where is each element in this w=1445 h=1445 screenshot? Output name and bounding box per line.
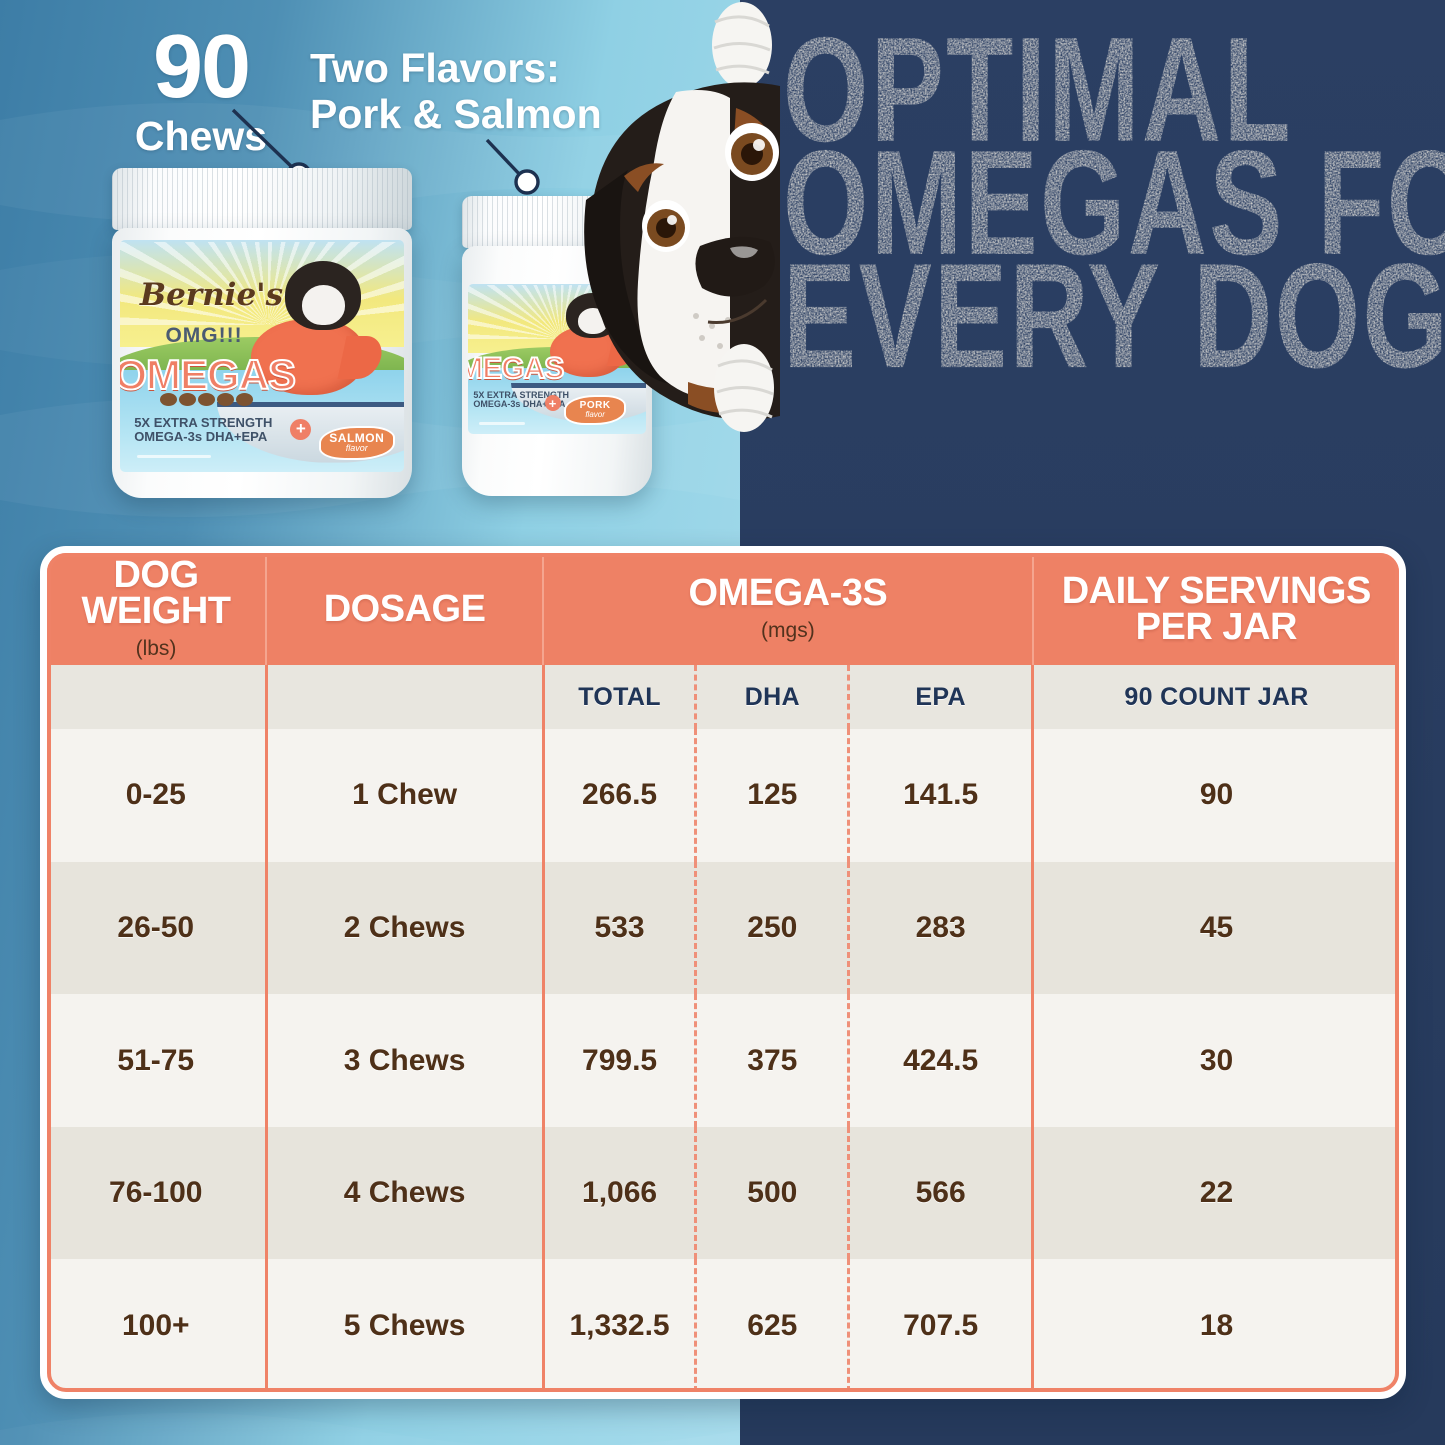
table-sub-header-row: TOTAL DHA EPA 90 COUNT JAR (47, 665, 1399, 729)
dog-eye-left (642, 200, 690, 252)
cell-servings: 18 (1033, 1259, 1399, 1392)
subheader-dha: DHA (696, 665, 849, 729)
cell-dog-weight: 26-50 (47, 862, 266, 995)
cell-dosage: 2 Chews (266, 862, 543, 995)
cell-total: 533 (543, 862, 696, 995)
table-row: 0-25 1 Chew 266.5 125 141.5 90 (47, 729, 1399, 862)
cell-servings: 90 (1033, 729, 1399, 862)
plus-icon: + (290, 419, 311, 440)
jar-claim-line-2: OMEGA-3s DHA+EPA (134, 430, 272, 444)
infographic-canvas: OPTIMAL OMEGAS FOR EVERY DOG 90 Chews Tw… (0, 0, 1445, 1445)
cell-total: 1,332.5 (543, 1259, 696, 1392)
leader-dot-flavors (516, 171, 538, 193)
flavor-badge-salmon: SALMON flavor (319, 426, 395, 460)
jar-body: Bernie's OMG!!! OMEGAS 5X EXTRA STRENGTH… (112, 228, 412, 498)
table-row: 76-100 4 Chews 1,066 500 566 22 (47, 1127, 1399, 1260)
cell-dha: 625 (696, 1259, 849, 1392)
table-row: 100+ 5 Chews 1,332.5 625 707.5 18 (47, 1259, 1399, 1392)
cell-dha: 375 (696, 994, 849, 1127)
cell-total: 799.5 (543, 994, 696, 1127)
header-dog-weight-unit: (lbs) (53, 637, 259, 661)
subheader-blank-2 (266, 665, 543, 729)
header-omega3s-label: OMEGA-3S (689, 572, 888, 614)
header-omega3s-unit: (mgs) (550, 619, 1025, 643)
product-jar-salmon: Bernie's OMG!!! OMEGAS 5X EXTRA STRENGTH… (112, 168, 412, 498)
cell-dosage: 4 Chews (266, 1127, 543, 1260)
cell-dosage: 5 Chews (266, 1259, 543, 1392)
cell-epa: 283 (849, 862, 1033, 995)
cell-servings: 45 (1033, 862, 1399, 995)
cell-servings: 30 (1033, 994, 1399, 1127)
cell-dha: 125 (696, 729, 849, 862)
cell-epa: 424.5 (849, 994, 1033, 1127)
cell-dog-weight: 100+ (47, 1259, 266, 1392)
cell-dosage: 3 Chews (266, 994, 543, 1127)
jar-label-artwork: Bernie's OMG!!! OMEGAS 5X EXTRA STRENGTH… (120, 240, 404, 472)
cell-dosage: 1 Chew (266, 729, 543, 862)
subheader-total: TOTAL (543, 665, 696, 729)
table-group-header-row: DOG WEIGHT (lbs) DOSAGE OMEGA-3S (mgs) D… (47, 553, 1399, 665)
jar-claim-line-1: 5X EXTRA STRENGTH (134, 416, 272, 430)
sub-brand: OMG!!! (165, 324, 242, 348)
hero-title: OPTIMAL OMEGAS FOR EVERY DOG (740, 0, 1445, 540)
cell-dha: 250 (696, 862, 849, 995)
table-row: 51-75 3 Chews 799.5 375 424.5 30 (47, 994, 1399, 1127)
table-row: 26-50 2 Chews 533 250 283 45 (47, 862, 1399, 995)
cell-dha: 500 (696, 1127, 849, 1260)
subheader-count-jar: 90 COUNT JAR (1033, 665, 1399, 729)
header-dog-weight-label: DOG WEIGHT (82, 554, 231, 632)
dog-paw-bottom (714, 344, 774, 432)
header-dosage: DOSAGE (266, 553, 543, 665)
hero-title-line-3: EVERY DOG (783, 232, 1445, 399)
dosage-table: DOG WEIGHT (lbs) DOSAGE OMEGA-3S (mgs) D… (40, 546, 1406, 1399)
cell-epa: 566 (849, 1127, 1033, 1260)
subheader-blank-1 (47, 665, 266, 729)
header-omega3s: OMEGA-3S (mgs) (543, 553, 1032, 665)
plus-icon: + (545, 395, 561, 411)
cell-total: 1,066 (543, 1127, 696, 1260)
flavor-word: flavor (346, 444, 368, 453)
peeking-dog-illustration (560, 0, 810, 450)
dog-paw-top (712, 2, 772, 88)
jar-name: OMEGAS (468, 352, 563, 386)
cell-dog-weight: 51-75 (47, 994, 266, 1127)
header-dosage-label: DOSAGE (324, 588, 486, 630)
jar-cap (112, 168, 412, 230)
cell-servings: 22 (1033, 1127, 1399, 1260)
header-dog-weight: DOG WEIGHT (lbs) (47, 553, 266, 665)
cell-dog-weight: 76-100 (47, 1127, 266, 1260)
subheader-epa: EPA (849, 665, 1033, 729)
cell-dog-weight: 0-25 (47, 729, 266, 862)
cell-total: 266.5 (543, 729, 696, 862)
brand-script: Bernie's (140, 277, 283, 313)
cell-epa: 707.5 (849, 1259, 1033, 1392)
header-daily-servings: DAILY SERVINGS PER JAR (1033, 553, 1399, 665)
chew-pieces-icon (160, 393, 253, 406)
cell-epa: 141.5 (849, 729, 1033, 862)
dog-eye-right (725, 123, 779, 181)
header-daily-servings-label: DAILY SERVINGS PER JAR (1062, 570, 1371, 648)
